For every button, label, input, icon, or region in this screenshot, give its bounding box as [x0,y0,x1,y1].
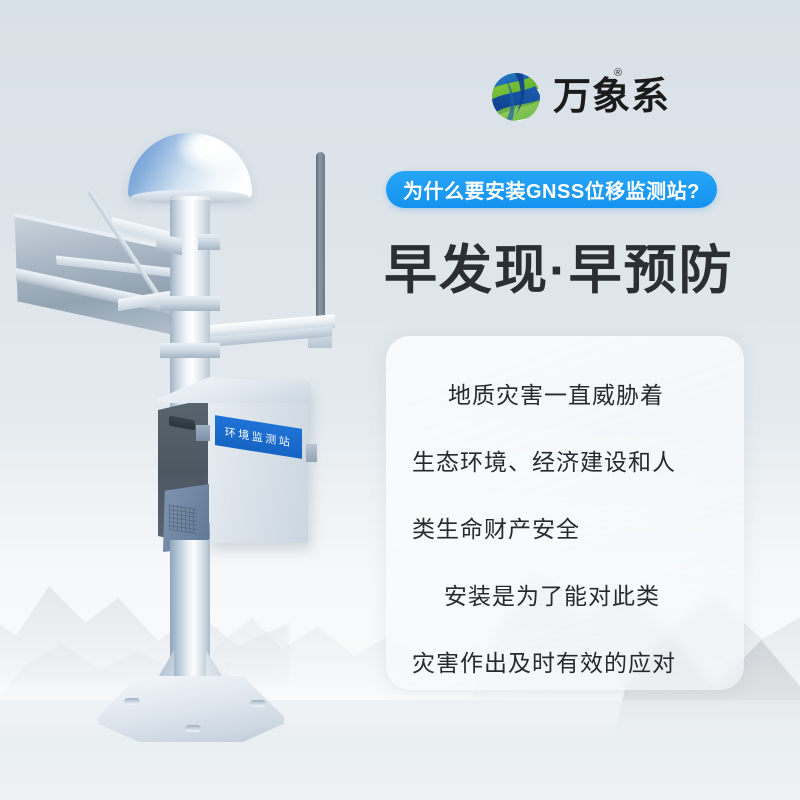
description-card: 地质灾害一直威胁着 生态环境、经济建设和人 类生命财产安全 安装是为了能对此类 … [386,336,744,690]
page-title: 早发现·早预防 [384,228,734,304]
brand-name: 万象系 [553,70,670,124]
pole-clamp-upper-right [198,234,220,250]
description-line: 安装是为了能对此类 [412,577,718,611]
description-line: 类生命财产安全 [412,510,718,544]
enclosure-label-text: 环境监测站 [225,424,293,451]
question-badge-label: 为什么要安装GNSS位移监测站? [403,175,700,204]
control-box-icon [208,383,308,543]
description-line: 灾害作出及时有效的应对 [412,644,718,678]
base-bolt-hole-left [124,698,140,705]
base-bolt-hole-right [250,700,266,707]
base-bolt-hole-front [185,725,201,732]
monitoring-station-illustration: 环境监测站 [0,0,400,800]
description-card-body: 地质灾害一直威胁着 生态环境、经济建设和人 类生命财产安全 安装是为了能对此类 … [386,336,744,690]
whip-antenna-icon [316,152,325,324]
poster-canvas: 环境监测站 [0,0,800,800]
brand-logo: 万象系 ® [489,69,669,125]
pole-clamp-mid-lower [160,343,220,358]
base-plate-icon [98,676,284,742]
description-line: 地质灾害一直威胁着 [412,376,718,410]
control-box-grill [169,504,197,534]
control-box-latch-upper [196,425,210,441]
globe-swirl-logo-icon [489,70,543,124]
description-line: 生态环境、经济建设和人 [412,443,718,477]
pole-clamp-mid-upper [160,296,220,311]
question-badge: 为什么要安装GNSS位移监测站? [386,171,717,208]
control-box-side-tab [306,444,317,462]
registered-trademark-icon: ® [614,67,622,79]
